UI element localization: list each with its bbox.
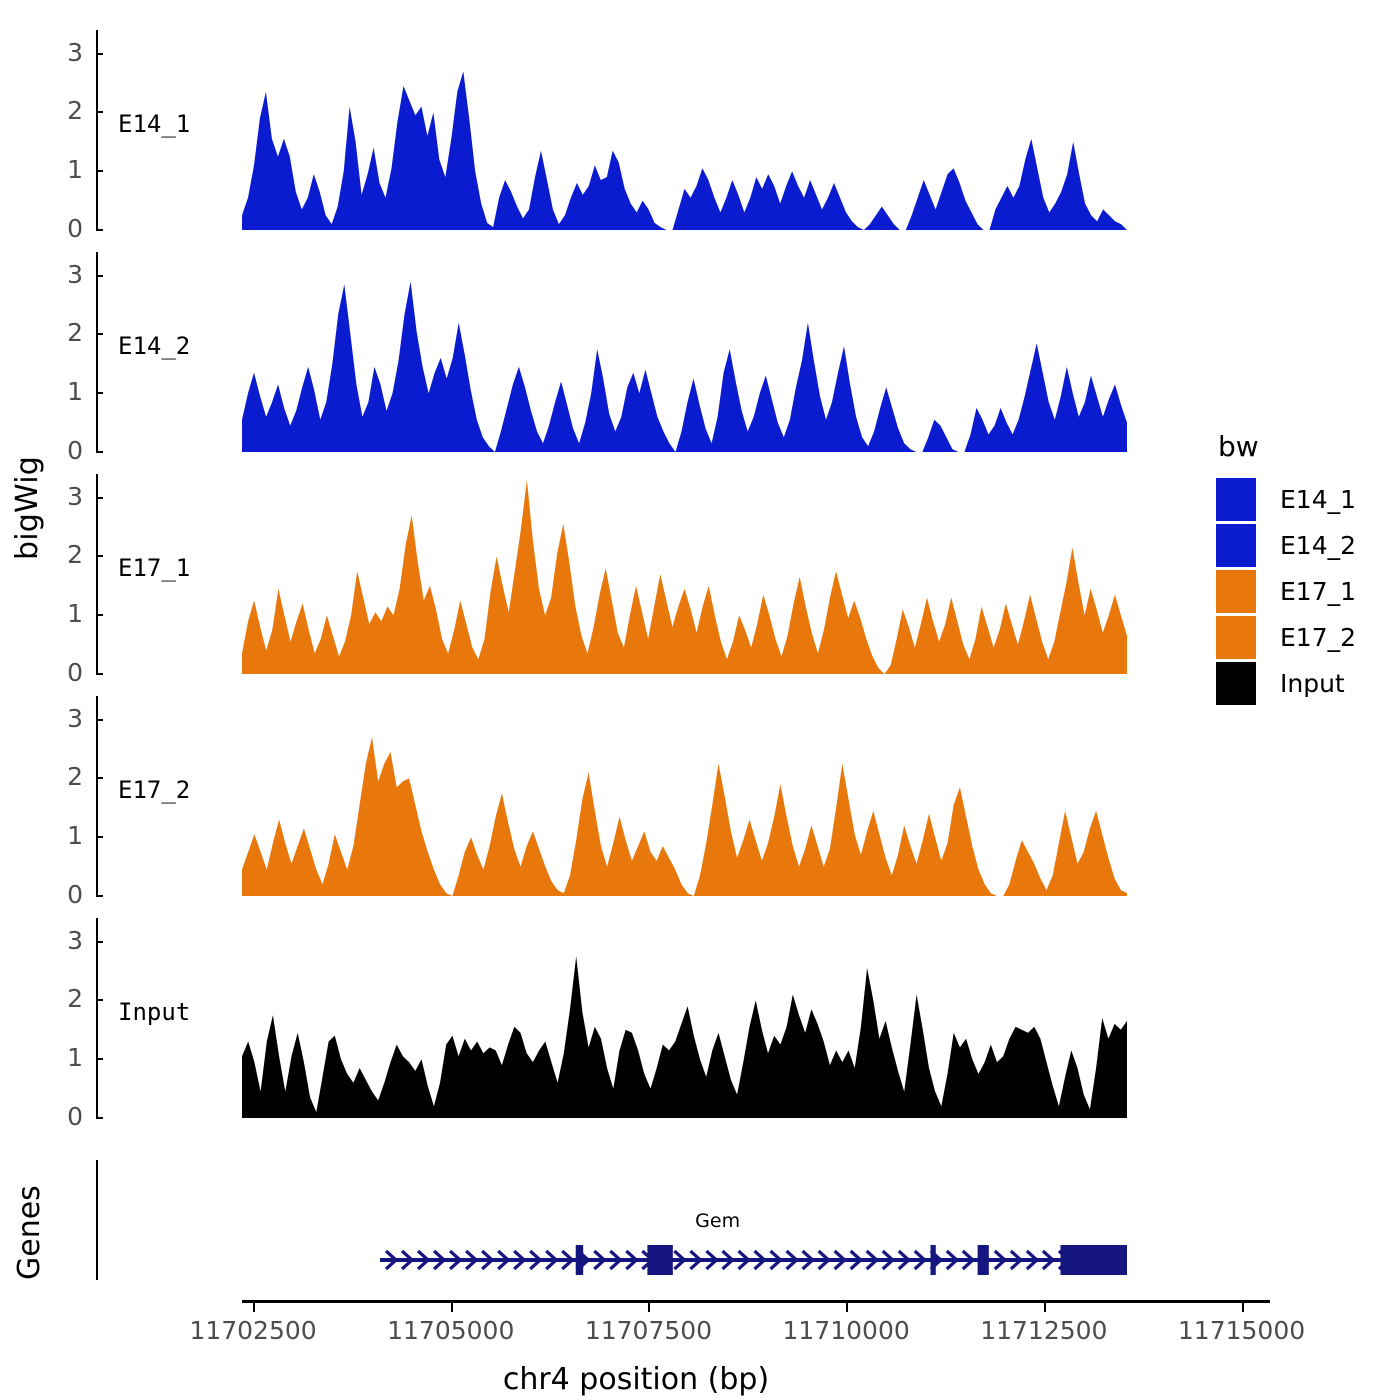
y-tick-label: 2 <box>67 98 83 124</box>
y-tick-label: 2 <box>67 986 83 1012</box>
track-waveform-e17_1 <box>98 474 1174 674</box>
x-tick-label: 11712500 <box>980 1316 1107 1345</box>
x-tick-label: 11707500 <box>585 1316 712 1345</box>
track-plot-area <box>98 252 1174 452</box>
track-panel-e17_2: 0123E17_2 <box>96 696 1174 896</box>
track-label-e17_2: E17_2 <box>118 776 190 804</box>
track-plot-area <box>98 696 1174 896</box>
legend-title: bw <box>1218 432 1396 462</box>
gene-exon-2 <box>647 1245 672 1275</box>
legend-label: E14_2 <box>1280 531 1356 560</box>
y-tick-label: 3 <box>67 40 83 66</box>
y-tick-label: 1 <box>67 601 83 627</box>
y-tick-label: 3 <box>67 928 83 954</box>
legend-item-e17_2[interactable]: E17_2 <box>1216 614 1396 660</box>
track-waveform-e17_2 <box>98 696 1174 896</box>
plot-root: bigWig Genes 0123E14_10123E14_20123E17_1… <box>0 0 1400 1400</box>
y-tick-label: 3 <box>67 706 83 732</box>
track-panel-e14_2: 0123E14_2 <box>96 252 1174 452</box>
x-tick-mark <box>1044 1303 1046 1312</box>
gene-track-panel: Gem <box>96 1160 1174 1292</box>
legend-item-input[interactable]: Input <box>1216 660 1396 706</box>
track-waveform-e14_1 <box>98 30 1174 230</box>
track-panel-e14_1: 0123E14_1 <box>96 30 1174 230</box>
gene-exon-4 <box>978 1245 989 1275</box>
x-tick-label: 11705000 <box>387 1316 514 1345</box>
x-tick-mark <box>846 1303 848 1312</box>
track-plot-area <box>98 474 1174 674</box>
track-plot-area <box>98 918 1174 1118</box>
legend-label: E14_1 <box>1280 485 1356 514</box>
legend-item-e14_2[interactable]: E14_2 <box>1216 522 1396 568</box>
x-tick-label: 11702500 <box>189 1316 316 1345</box>
legend: bw E14_1E14_2E17_1E17_2Input <box>1216 432 1396 706</box>
track-label-e14_1: E14_1 <box>118 110 190 138</box>
y-tick-label: 0 <box>67 660 83 686</box>
y-tick-label: 0 <box>67 438 83 464</box>
x-tick-label: 11715000 <box>1178 1316 1305 1345</box>
y-tick-label: 2 <box>67 764 83 790</box>
y-tick-label: 1 <box>67 1045 83 1071</box>
y-tick-label: 2 <box>67 542 83 568</box>
track-label-e17_1: E17_1 <box>118 554 190 582</box>
x-tick-mark <box>1242 1303 1244 1312</box>
gene-model-gem <box>98 1160 1176 1292</box>
legend-item-e17_1[interactable]: E17_1 <box>1216 568 1396 614</box>
legend-swatch <box>1216 616 1256 659</box>
x-tick-mark <box>253 1303 255 1312</box>
gene-exon-1 <box>576 1245 583 1275</box>
x-tick-mark <box>648 1303 650 1312</box>
track-waveform-e14_2 <box>98 252 1174 452</box>
legend-label: Input <box>1280 669 1345 698</box>
y-tick-label: 0 <box>67 882 83 908</box>
gene-exon-5 <box>1061 1245 1127 1275</box>
y-tick-label: 1 <box>67 157 83 183</box>
x-tick-label: 11710000 <box>783 1316 910 1345</box>
track-panel-e17_1: 0123E17_1 <box>96 474 1174 674</box>
legend-swatch <box>1216 524 1256 567</box>
track-panel-input: 0123Input <box>96 918 1174 1118</box>
y-tick-label: 3 <box>67 262 83 288</box>
y-tick-label: 2 <box>67 320 83 346</box>
legend-swatch <box>1216 662 1256 705</box>
track-label-e14_2: E14_2 <box>118 332 190 360</box>
legend-label: E17_1 <box>1280 577 1356 606</box>
y-tick-label: 0 <box>67 216 83 242</box>
legend-swatch <box>1216 478 1256 521</box>
x-axis-title: chr4 position (bp) <box>96 1362 1176 1397</box>
gene-exon-3 <box>931 1245 936 1275</box>
track-label-input: Input <box>118 998 190 1026</box>
legend-items: E14_1E14_2E17_1E17_2Input <box>1216 476 1396 706</box>
legend-label: E17_2 <box>1280 623 1356 652</box>
legend-swatch <box>1216 570 1256 613</box>
x-tick-mark <box>451 1303 453 1312</box>
x-axis: 1170250011705000117075001171000011712500… <box>96 1300 1176 1400</box>
y-tick-label: 0 <box>67 1104 83 1130</box>
track-waveform-input <box>98 918 1174 1118</box>
track-plot-area <box>98 30 1174 230</box>
y-tick-label: 3 <box>67 484 83 510</box>
y-tick-label: 1 <box>67 379 83 405</box>
x-axis-line <box>242 1300 1270 1303</box>
legend-item-e14_1[interactable]: E14_1 <box>1216 476 1396 522</box>
y-axis-title-bigwig: bigWig <box>10 456 45 560</box>
y-tick-label: 1 <box>67 823 83 849</box>
y-axis-title-genes: Genes <box>12 1185 47 1280</box>
